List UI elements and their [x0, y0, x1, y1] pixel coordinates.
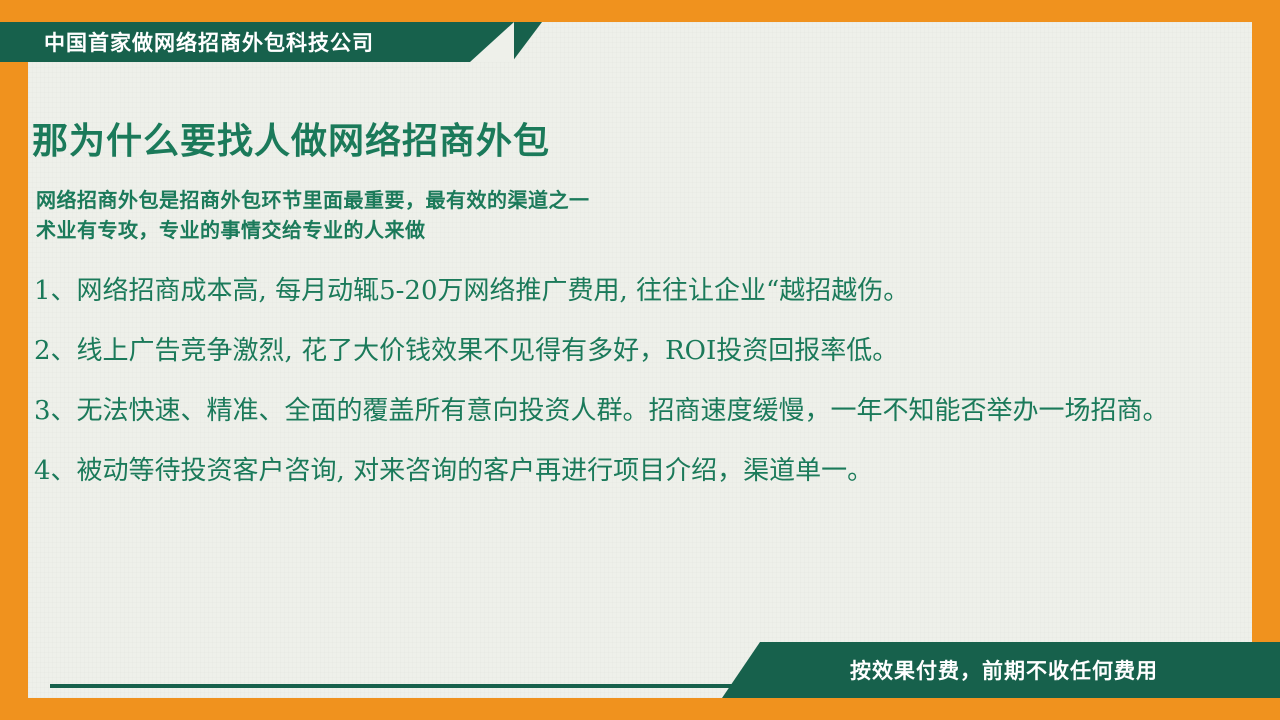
list-item: 3、无法快速、精准、全面的覆盖所有意向投资人群。招商速度缓慢，一年不知能否举办一… — [34, 392, 1184, 430]
bullet-list: 1、网络招商成本高, 每月动辄5-20万网络推广费用, 往往让企业“越招越伤。 … — [34, 272, 1184, 490]
subtitle-line-2: 术业有专攻，专业的事情交给专业的人来做 — [36, 216, 590, 246]
list-item: 1、网络招商成本高, 每月动辄5-20万网络推广费用, 往往让企业“越招越伤。 — [34, 272, 1184, 310]
footer-ribbon-label: 按效果付费，前期不收任何费用 — [760, 655, 1158, 685]
slide: 那为什么要找人做网络招商外包 网络招商外包是招商外包环节里面最重要，最有效的渠道… — [0, 0, 1280, 720]
page-title: 那为什么要找人做网络招商外包 — [32, 112, 550, 164]
header-ribbon-label: 中国首家做网络招商外包科技公司 — [0, 27, 374, 57]
subtitle-block: 网络招商外包是招商外包环节里面最重要，最有效的渠道之一 术业有专攻，专业的事情交… — [36, 186, 590, 246]
subtitle-line-1: 网络招商外包是招商外包环节里面最重要，最有效的渠道之一 — [36, 186, 590, 216]
footer-divider — [50, 684, 750, 688]
list-item: 4、被动等待投资客户咨询, 对来咨询的客户再进行项目介绍，渠道单一。 — [34, 452, 1184, 490]
list-item: 2、线上广告竞争激烈, 花了大价钱效果不见得有多好，ROI投资回报率低。 — [34, 332, 1184, 370]
footer-ribbon: 按效果付费，前期不收任何费用 — [760, 642, 1280, 698]
header-ribbon: 中国首家做网络招商外包科技公司 — [0, 22, 512, 62]
slide-content: 那为什么要找人做网络招商外包 网络招商外包是招商外包环节里面最重要，最有效的渠道… — [0, 0, 1224, 676]
